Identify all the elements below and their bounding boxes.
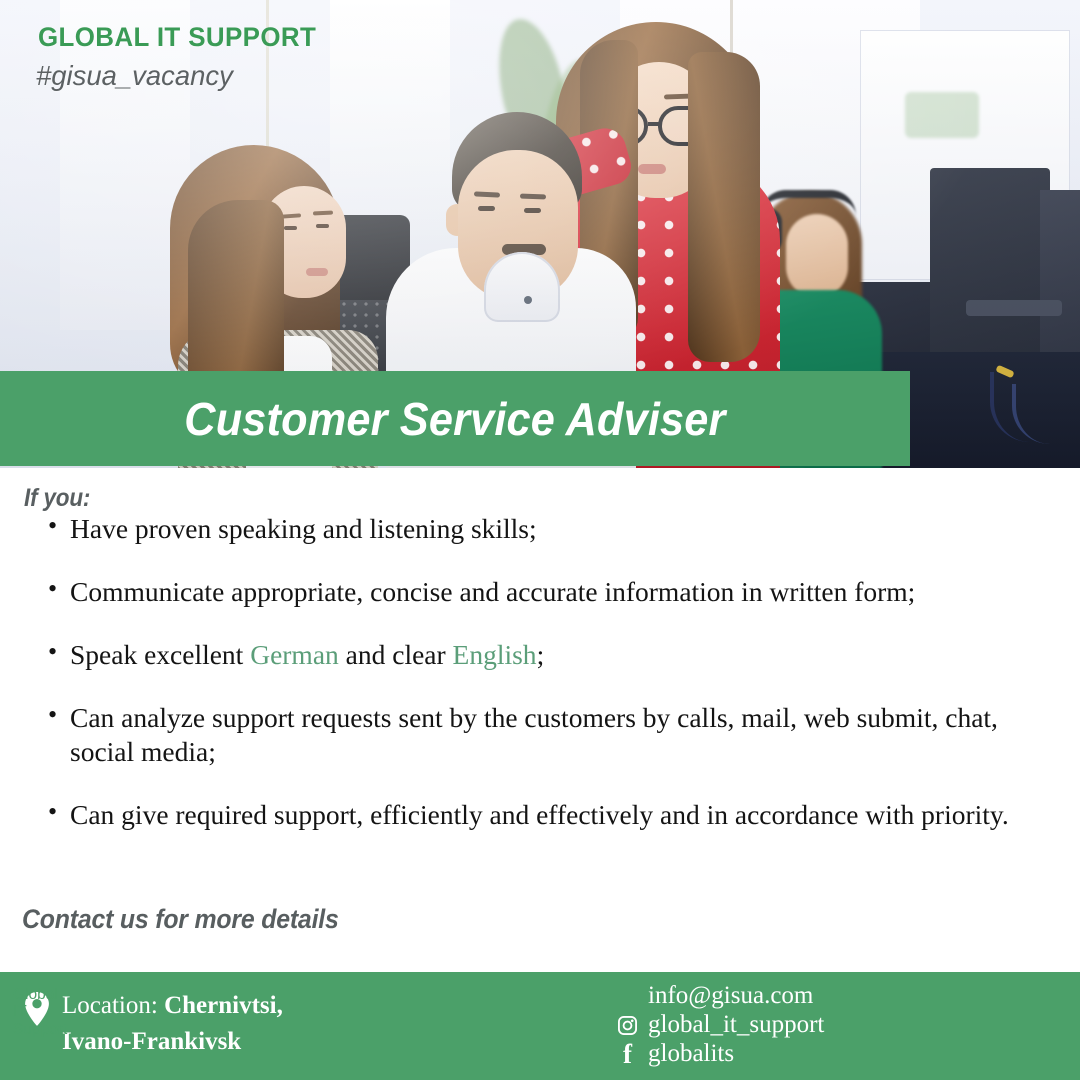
whiteboard-writing [905, 92, 979, 138]
list-item: Speak excellent German and clear English… [46, 638, 1051, 672]
logo-line-2: IT [13, 1003, 27, 1020]
list-item-text: Can give required support, efficiently a… [70, 799, 1009, 830]
list-item-text-suffix: ; [537, 639, 545, 670]
instagram-icon [617, 1015, 638, 1036]
facebook-icon: f [623, 1041, 632, 1068]
requirements-section: If you: Have proven speaking and listeni… [0, 468, 1080, 972]
email-icon-placeholder [616, 985, 639, 1008]
footer-bar: Location: Chernivtsi, Ivano-Frankivsk in… [0, 972, 1080, 1080]
list-item-text: Communicate appropriate, concise and acc… [70, 576, 915, 607]
facebook-icon-slot: f [616, 1043, 639, 1066]
brand-title: GLOBAL IT SUPPORT [38, 22, 316, 53]
language-highlight-german: German [250, 639, 339, 670]
campaign-hashtag: #gisua_vacancy [36, 60, 233, 92]
contact-row-instagram[interactable]: global_it_support [616, 1011, 824, 1040]
requirements-list: Have proven speaking and listening skill… [46, 512, 1051, 862]
list-item: Have proven speaking and listening skill… [46, 512, 1051, 546]
location-city-primary: Chernivtsi, [164, 992, 283, 1019]
background-worker-face [786, 214, 848, 298]
language-highlight-english: English [453, 639, 537, 670]
location-text: Location: Chernivtsi, Ivano-Frankivsk [62, 988, 283, 1059]
location-label: Location: [62, 992, 158, 1019]
eye [524, 208, 541, 213]
job-title: Customer Service Adviser [184, 392, 725, 446]
requirements-intro: If you: [24, 484, 90, 513]
desk-surface [880, 352, 1080, 468]
shirt-button [524, 296, 532, 304]
eye [478, 206, 495, 211]
call-to-action: Contact us for more details [22, 904, 339, 935]
facebook-handle[interactable]: globalits [648, 1040, 734, 1069]
shirt-collar [484, 252, 560, 322]
list-item: Communicate appropriate, concise and acc… [46, 575, 1051, 609]
eyeglass-bridge [648, 122, 660, 126]
list-item-text: Speak excellent [70, 639, 250, 670]
contact-row-facebook[interactable]: f globalits [616, 1040, 824, 1069]
list-item: Can give required support, efficiently a… [46, 798, 1051, 832]
instagram-icon-slot [616, 1014, 639, 1037]
list-item-text-middle: and clear [339, 639, 453, 670]
location-city-secondary: Ivano-Frankivsk [62, 1028, 241, 1055]
contact-row-email[interactable]: info@gisua.com [616, 982, 824, 1011]
contact-list: info@gisua.com global_it_support f globa… [616, 982, 824, 1069]
lips [306, 268, 328, 276]
list-item-text: Have proven speaking and listening skill… [70, 513, 537, 544]
eyebrow [520, 194, 546, 200]
logo-line-3: Support [13, 1021, 67, 1038]
list-item-text: Can analyze support requests sent by the… [70, 702, 998, 767]
lips [638, 164, 666, 174]
email-value[interactable]: info@gisua.com [648, 982, 813, 1011]
vacancy-poster: GLOBAL IT SUPPORT #gisua_vacancy Custome… [0, 0, 1080, 1080]
instagram-handle[interactable]: global_it_support [648, 1011, 824, 1040]
eye [316, 224, 329, 228]
standing-woman-hair-front [688, 52, 760, 362]
monitor-arm [966, 300, 1062, 316]
list-item: Can analyze support requests sent by the… [46, 701, 1051, 769]
job-title-banner: Customer Service Adviser [0, 371, 910, 466]
eye [284, 226, 297, 230]
company-logo-text: GlobalITSupport [13, 986, 67, 1038]
logo-line-1: Global [13, 986, 58, 1003]
